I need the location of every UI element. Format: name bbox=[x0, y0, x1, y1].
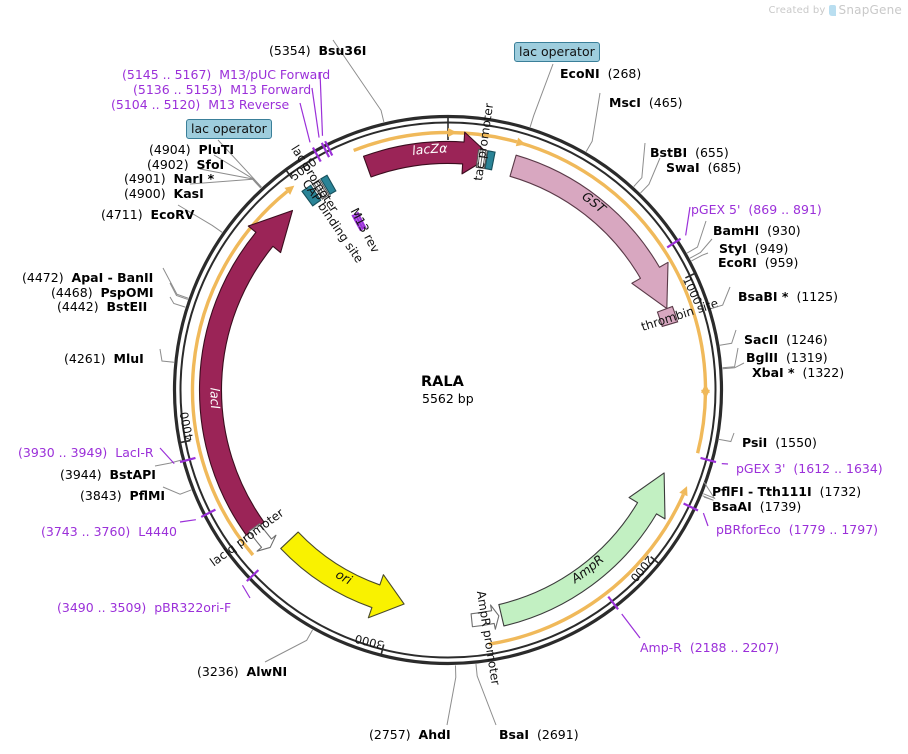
label-gap bbox=[778, 332, 786, 347]
primer-leader-line bbox=[160, 448, 174, 464]
primer-leader-line bbox=[686, 207, 690, 235]
enzyme-name: EcoNI bbox=[560, 66, 600, 81]
enzyme-name: BsaAI bbox=[712, 499, 752, 514]
enzyme-label-sacii: SacII (1246) bbox=[744, 333, 828, 346]
enzyme-leader-line bbox=[634, 143, 645, 187]
primer-label-amp_r: Amp-R (2188 .. 2207) bbox=[640, 641, 779, 654]
enzyme-name: BsaI bbox=[499, 727, 529, 742]
plasmid-name: RALA bbox=[421, 374, 464, 390]
label-position: (3843) bbox=[80, 488, 122, 503]
enzyme-label-alwni: (3236) AlwNI bbox=[197, 665, 287, 678]
label-gap bbox=[166, 171, 174, 186]
feature-label: lacI bbox=[207, 388, 223, 410]
label-position: (3930 .. 3949) bbox=[18, 445, 107, 460]
enzyme-label-pflmi: (3843) PflMI bbox=[80, 489, 165, 502]
label-gap bbox=[166, 186, 174, 201]
enzyme-name: PluTI bbox=[199, 142, 235, 157]
label-position: (5354) bbox=[269, 43, 311, 58]
primer-label-m13puc_fwd: (5145 .. 5167) M13/pUC Forward bbox=[122, 68, 330, 81]
enzyme-name: PsiI bbox=[742, 435, 767, 450]
enzyme-label-xbai: XbaI * (1322) bbox=[752, 366, 844, 379]
label-gap bbox=[189, 157, 197, 172]
label-gap bbox=[529, 727, 537, 742]
label-position: (5104 .. 5120) bbox=[111, 97, 200, 112]
enzyme-leader-line bbox=[265, 630, 313, 662]
label-position: (959) bbox=[765, 255, 799, 270]
enzyme-label-mlui: (4261) MluI bbox=[64, 352, 144, 365]
enzyme-label-msci: MscI (465) bbox=[609, 96, 683, 109]
enzyme-name: PflFI - Tth111I bbox=[712, 484, 812, 499]
enzyme-name: BstEII bbox=[107, 299, 148, 314]
label-gap bbox=[757, 255, 765, 270]
enzyme-name: KasI bbox=[174, 186, 204, 201]
label-position: (5145 .. 5167) bbox=[122, 67, 211, 82]
label-position: (1739) bbox=[760, 499, 802, 514]
primer-leader-line bbox=[312, 88, 319, 138]
enzyme-name: SfoI bbox=[197, 157, 225, 172]
enzyme-label-bstbi: BstBI (655) bbox=[650, 146, 729, 159]
primer-name: pBR322ori-F bbox=[154, 600, 231, 615]
label-position: (4468) bbox=[51, 285, 93, 300]
label-position: (655) bbox=[695, 145, 729, 160]
label-position: (4900) bbox=[124, 186, 166, 201]
label-position: (2757) bbox=[369, 727, 411, 742]
label-gap bbox=[99, 299, 107, 314]
enzyme-name: BglII bbox=[746, 350, 778, 365]
label-position: (4901) bbox=[124, 171, 166, 186]
enzyme-name: AhdI bbox=[419, 727, 451, 742]
feature-AmpR bbox=[499, 473, 665, 626]
label-gap bbox=[93, 285, 101, 300]
label-position: (4902) bbox=[147, 157, 189, 172]
watermark-prefix: Created by bbox=[769, 5, 826, 16]
enzyme-leader-line bbox=[160, 349, 174, 362]
enzyme-leader-line bbox=[691, 253, 708, 261]
label-position: (930) bbox=[767, 223, 801, 238]
label-position: (1612 .. 1634) bbox=[793, 461, 882, 476]
enzyme-label-bsu36i: (5354) Bsu36I bbox=[269, 44, 366, 57]
primer-label-pgex5: pGEX 5' (869 .. 891) bbox=[691, 203, 822, 216]
primer-leader-line bbox=[180, 520, 196, 522]
label-gap bbox=[239, 664, 247, 679]
lac-operator-box-left: lac operator bbox=[186, 119, 272, 139]
feature-label: lacZα bbox=[411, 140, 448, 158]
enzyme-label-ahdi: (2757) AhdI bbox=[369, 728, 451, 741]
enzyme-label-bglii: BglII (1319) bbox=[746, 351, 828, 364]
label-gap bbox=[795, 365, 803, 380]
enzyme-name: BstBI bbox=[650, 145, 687, 160]
label-position: (869 .. 891) bbox=[748, 202, 821, 217]
primer-leader-line bbox=[300, 103, 310, 142]
enzyme-leader-line bbox=[687, 221, 706, 253]
orf-arrowhead bbox=[701, 384, 710, 393]
label-position: (1125) bbox=[796, 289, 838, 304]
feature-lacI bbox=[199, 211, 292, 535]
enzyme-label-bsaai: BsaAI (1739) bbox=[712, 500, 801, 513]
label-position: (3743 .. 3760) bbox=[41, 524, 130, 539]
primer-name: L4440 bbox=[138, 524, 177, 539]
label-gap bbox=[687, 145, 695, 160]
primer-label-l4440: (3743 .. 3760) L4440 bbox=[41, 525, 177, 538]
enzyme-name: AlwNI bbox=[247, 664, 288, 679]
primer-leader-line bbox=[242, 585, 250, 598]
label-gap bbox=[122, 488, 130, 503]
enzyme-label-apai: (4472) ApaI - BanII bbox=[22, 271, 153, 284]
enzyme-name: PflMI bbox=[130, 488, 166, 503]
label-position: (4472) bbox=[22, 270, 64, 285]
label-position: (3944) bbox=[60, 467, 102, 482]
enzyme-label-styi: StyI (949) bbox=[719, 242, 788, 255]
label-gap bbox=[781, 522, 789, 537]
label-gap bbox=[752, 499, 760, 514]
enzyme-name: EcoRV bbox=[151, 207, 195, 222]
enzyme-name: BamHI bbox=[713, 223, 759, 238]
enzyme-name: BstAPI bbox=[110, 467, 156, 482]
label-position: (1319) bbox=[786, 350, 828, 365]
enzyme-name: MscI bbox=[609, 95, 641, 110]
snapgene-watermark: Created by SnapGene bbox=[769, 3, 903, 17]
lac-operator-box-top: lac operator bbox=[514, 42, 600, 62]
primer-label-pbr322ori_f: (3490 .. 3509) pBR322ori-F bbox=[57, 601, 231, 614]
label-gap bbox=[700, 160, 708, 175]
label-gap bbox=[191, 142, 199, 157]
label-position: (4261) bbox=[64, 351, 106, 366]
label-position: (4904) bbox=[149, 142, 191, 157]
label-position: (1779 .. 1797) bbox=[789, 522, 878, 537]
enzyme-label-nari: (4901) NarI * bbox=[124, 172, 214, 185]
label-gap bbox=[311, 43, 319, 58]
primer-label-m13_fwd: (5136 .. 5153) M13 Forward bbox=[133, 83, 311, 96]
enzyme-label-psii: PsiI (1550) bbox=[742, 436, 817, 449]
primer-label-pbrforeco: pBRforEco (1779 .. 1797) bbox=[716, 523, 878, 536]
primer-label-pgex3: pGEX 3' (1612 .. 1634) bbox=[736, 462, 883, 475]
label-position: (5136 .. 5153) bbox=[133, 82, 222, 97]
label-position: (268) bbox=[608, 66, 642, 81]
enzyme-name: MluI bbox=[114, 351, 144, 366]
enzyme-leader-line bbox=[586, 93, 600, 152]
enzyme-label-swai: SwaI (685) bbox=[666, 161, 741, 174]
label-position: (949) bbox=[755, 241, 789, 256]
primer-leader-line bbox=[622, 614, 640, 638]
label-position: (2188 .. 2207) bbox=[690, 640, 779, 655]
primer-name: LacI-R bbox=[115, 445, 153, 460]
label-gap bbox=[64, 270, 72, 285]
plasmid-size: 5562 bp bbox=[422, 391, 474, 406]
primer-name: pGEX 5' bbox=[691, 202, 740, 217]
feature-GST bbox=[510, 155, 668, 308]
primer-name: M13 Reverse bbox=[208, 97, 289, 112]
enzyme-label-sfoi: (4902) SfoI bbox=[147, 158, 224, 171]
label-position: (2691) bbox=[537, 727, 579, 742]
primer-name: pGEX 3' bbox=[736, 461, 785, 476]
label-position: (1246) bbox=[786, 332, 828, 347]
enzyme-label-plutі: (4904) PluTI bbox=[149, 143, 234, 156]
primer-name: pBRforEco bbox=[716, 522, 781, 537]
primer-name: M13/pUC Forward bbox=[219, 67, 330, 82]
enzyme-name: StyI bbox=[719, 241, 747, 256]
label-position: (1550) bbox=[775, 435, 817, 450]
enzyme-label-ecori: EcoRI (959) bbox=[718, 256, 798, 269]
enzyme-label-ecorv: (4711) EcoRV bbox=[101, 208, 194, 221]
orf-arc bbox=[698, 393, 706, 453]
enzyme-name: SacII bbox=[744, 332, 778, 347]
primer-name: Amp-R bbox=[640, 640, 682, 655]
label-gap bbox=[747, 241, 755, 256]
primer-leader-line bbox=[703, 513, 708, 526]
enzyme-leader-line bbox=[530, 64, 553, 127]
label-gap bbox=[600, 66, 608, 81]
label-position: (4442) bbox=[57, 299, 99, 314]
plasmid-map-canvas: .bb{fill:none;stroke:#2b2b2b;} .leader{f… bbox=[0, 0, 908, 754]
enzyme-leader-line bbox=[719, 433, 734, 442]
enzyme-leader-line bbox=[723, 348, 738, 368]
primer-label-m13_rev: (5104 .. 5120) M13 Reverse bbox=[111, 98, 289, 111]
enzyme-name: SwaI bbox=[666, 160, 700, 175]
snapgene-logo-icon bbox=[829, 5, 836, 16]
enzyme-label-bstei: (4442) BstEII bbox=[57, 300, 147, 313]
label-gap bbox=[778, 350, 786, 365]
label-gap bbox=[106, 351, 114, 366]
enzyme-label-bamhi: BamHI (930) bbox=[713, 224, 801, 237]
label-gap bbox=[641, 95, 649, 110]
enzyme-name: NarI * bbox=[174, 171, 215, 186]
enzyme-leader-line bbox=[720, 330, 736, 345]
enzyme-name: XbaI * bbox=[752, 365, 795, 380]
primer-label-laci_r: (3930 .. 3949) LacI-R bbox=[18, 446, 154, 459]
watermark-brand: SnapGene bbox=[839, 3, 902, 17]
enzyme-name: EcoRI bbox=[718, 255, 757, 270]
enzyme-label-bsabi: BsaBI * (1125) bbox=[738, 290, 838, 303]
enzyme-name: ApaI - BanII bbox=[72, 270, 154, 285]
enzyme-label-pspomi: (4468) PspOMI bbox=[51, 286, 154, 299]
enzyme-name: PspOMI bbox=[101, 285, 154, 300]
label-gap bbox=[411, 727, 419, 742]
enzyme-label-bstapi: (3944) BstAPI bbox=[60, 468, 156, 481]
enzyme-name: BsaBI * bbox=[738, 289, 788, 304]
label-position: (685) bbox=[708, 160, 742, 175]
label-position: (4711) bbox=[101, 207, 143, 222]
enzyme-leader-line bbox=[447, 665, 456, 725]
enzyme-leader-line bbox=[155, 460, 182, 466]
enzyme-label-kasi: (4900) KasI bbox=[124, 187, 204, 200]
enzyme-leader-line bbox=[163, 487, 191, 494]
enzyme-label-pflfi: PflFI - Tth111I (1732) bbox=[712, 485, 861, 498]
label-position: (1732) bbox=[820, 484, 862, 499]
enzyme-leader-line bbox=[170, 297, 185, 307]
label-position: (465) bbox=[649, 95, 683, 110]
label-position: (1322) bbox=[803, 365, 845, 380]
enzyme-label-bsai: BsaI (2691) bbox=[499, 728, 579, 741]
enzyme-name: Bsu36I bbox=[319, 43, 367, 58]
label-position: (3236) bbox=[197, 664, 239, 679]
primer-name: M13 Forward bbox=[230, 82, 311, 97]
label-gap bbox=[812, 484, 820, 499]
label-gap bbox=[759, 223, 767, 238]
label-position: (3490 .. 3509) bbox=[57, 600, 146, 615]
label-gap bbox=[102, 467, 110, 482]
enzyme-label-econi: EcoNI (268) bbox=[560, 67, 641, 80]
label-gap bbox=[143, 207, 151, 222]
label-gap bbox=[682, 640, 690, 655]
